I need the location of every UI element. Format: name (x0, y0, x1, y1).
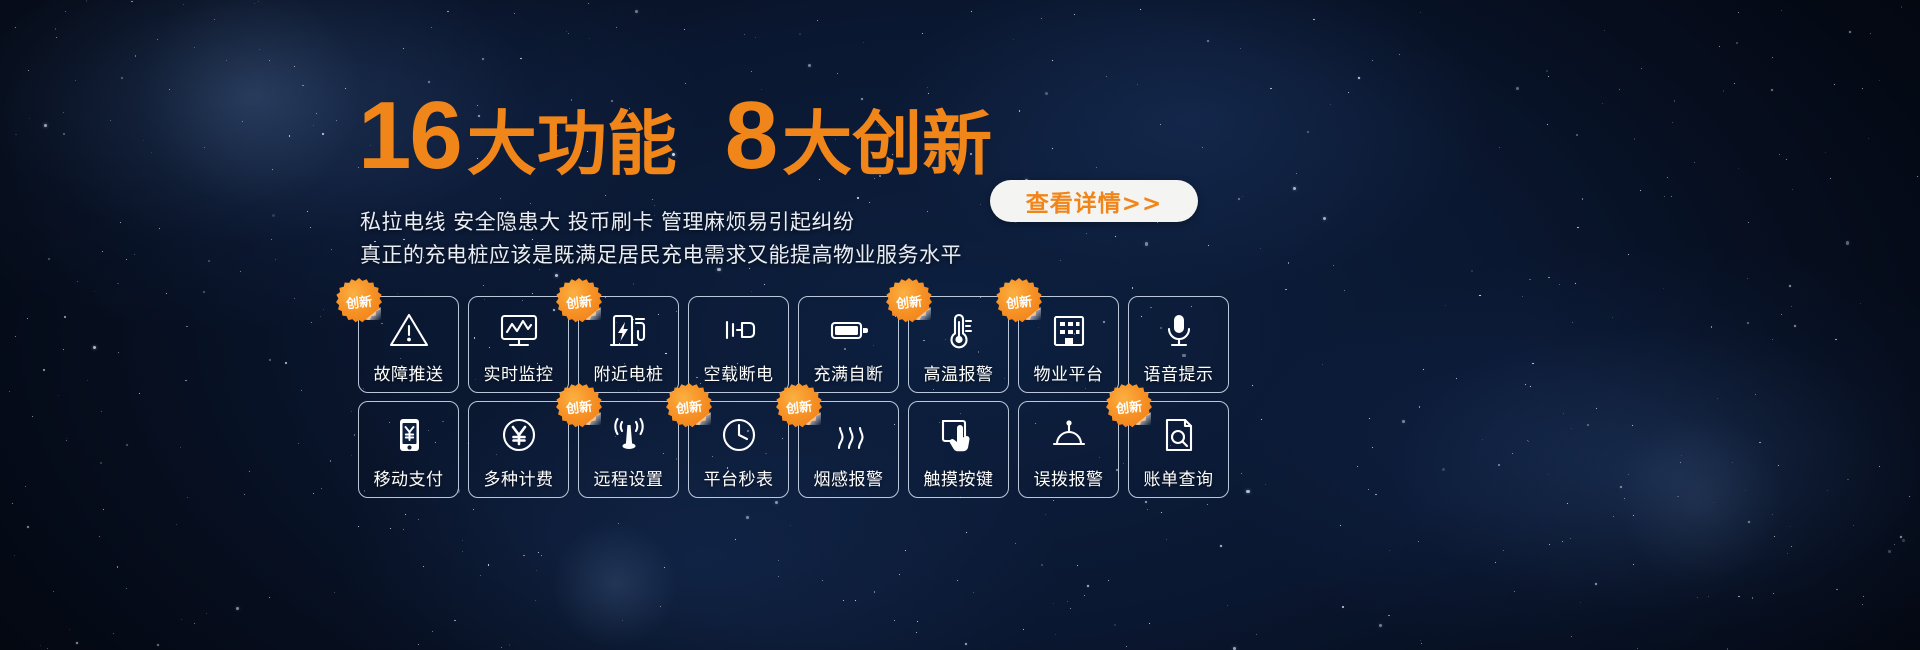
feature-cell-smoke-detector[interactable]: 创新烟感报警 (798, 401, 899, 498)
feature-label: 账单查询 (1129, 465, 1228, 490)
bill-search-icon (1157, 413, 1201, 457)
mobile-payment-icon (387, 413, 431, 457)
innovation-badge-label: 创新 (334, 276, 385, 327)
badge-fold-highlight (695, 412, 711, 425)
feature-label: 移动支付 (359, 465, 458, 490)
innovation-badge: 创新 (336, 278, 382, 324)
badge-fold-highlight (365, 307, 381, 320)
clock-icon (717, 413, 761, 457)
feature-cell-touch-hand[interactable]: 触摸按键 (908, 401, 1009, 498)
feature-cell-microphone[interactable]: 语音提示 (1128, 296, 1229, 393)
monitor-chart-icon (497, 308, 541, 352)
feature-row-1: 创新故障推送实时监控创新附近电桩空载断电充满自断创新高温报警创新物业平台语音提示 (358, 296, 1229, 393)
feature-label: 触摸按键 (909, 465, 1008, 490)
feature-cell-antenna-signal[interactable]: 创新远程设置 (578, 401, 679, 498)
feature-label: 高温报警 (909, 360, 1008, 385)
touch-hand-icon (937, 413, 981, 457)
feature-label: 故障推送 (359, 360, 458, 385)
feature-cell-battery-full[interactable]: 充满自断 (798, 296, 899, 393)
antenna-signal-icon (607, 413, 651, 457)
badge-fold-highlight (1135, 412, 1151, 425)
charging-pile-icon (607, 308, 651, 352)
feature-cell-thermometer[interactable]: 创新高温报警 (908, 296, 1009, 393)
headline-number-1: 16 (358, 88, 461, 184)
yuan-circle-icon (497, 413, 541, 457)
feature-cell-plug-disconnect[interactable]: 空载断电 (688, 296, 789, 393)
subtitle-line-1: 私拉电线 安全隐患大 投币刷卡 管理麻烦易引起纠纷 (360, 206, 962, 239)
feature-cell-bill-search[interactable]: 创新账单查询 (1128, 401, 1229, 498)
thermometer-icon (937, 308, 981, 352)
feature-row-2: 移动支付多种计费创新远程设置创新平台秒表创新烟感报警触摸按键误拨报警创新账单查询 (358, 401, 1229, 498)
headline: 16 大功能 8 大创新 (358, 88, 992, 184)
feature-label: 充满自断 (799, 360, 898, 385)
headline-number-2: 8 (725, 88, 776, 184)
feature-cell-clock[interactable]: 创新平台秒表 (688, 401, 789, 498)
subtitle-line-2: 真正的充电桩应该是既满足居民充电需求又能提高物业服务水平 (360, 239, 962, 272)
feature-label: 附近电桩 (579, 360, 678, 385)
feature-cell-building[interactable]: 创新物业平台 (1018, 296, 1119, 393)
subtitle-block: 私拉电线 安全隐患大 投币刷卡 管理麻烦易引起纠纷 真正的充电桩应该是既满足居民… (360, 206, 962, 272)
view-details-button[interactable]: 查看详情>> (990, 180, 1198, 222)
promo-banner: 16 大功能 8 大创新 私拉电线 安全隐患大 投币刷卡 管理麻烦易引起纠纷 真… (0, 0, 1920, 650)
badge-fold-highlight (805, 412, 821, 425)
alarm-bell-icon (1047, 413, 1091, 457)
feature-cell-monitor-chart[interactable]: 实时监控 (468, 296, 569, 393)
starburst-shape (336, 278, 382, 324)
feature-label: 空载断电 (689, 360, 788, 385)
feature-label: 平台秒表 (689, 465, 788, 490)
feature-cell-yuan-circle[interactable]: 多种计费 (468, 401, 569, 498)
badge-fold-highlight (585, 307, 601, 320)
badge-fold-highlight (915, 307, 931, 320)
feature-label: 烟感报警 (799, 465, 898, 490)
building-icon (1047, 308, 1091, 352)
feature-grid: 创新故障推送实时监控创新附近电桩空载断电充满自断创新高温报警创新物业平台语音提示… (358, 296, 1229, 498)
feature-label: 语音提示 (1129, 360, 1228, 385)
badge-fold-highlight (1025, 307, 1041, 320)
feature-label: 物业平台 (1019, 360, 1118, 385)
feature-cell-warning-triangle[interactable]: 创新故障推送 (358, 296, 459, 393)
feature-label: 实时监控 (469, 360, 568, 385)
microphone-icon (1157, 308, 1201, 352)
plug-disconnect-icon (717, 308, 761, 352)
feature-label: 误拨报警 (1019, 465, 1118, 490)
smoke-detector-icon (827, 413, 871, 457)
warning-triangle-icon (387, 308, 431, 352)
feature-cell-charging-pile[interactable]: 创新附近电桩 (578, 296, 679, 393)
feature-cell-alarm-bell[interactable]: 误拨报警 (1018, 401, 1119, 498)
headline-word-2: 大创新 (782, 109, 992, 179)
battery-full-icon (827, 308, 871, 352)
feature-cell-mobile-payment[interactable]: 移动支付 (358, 401, 459, 498)
feature-label: 远程设置 (579, 465, 678, 490)
headline-word-1: 大功能 (467, 109, 677, 179)
feature-label: 多种计费 (469, 465, 568, 490)
badge-fold-highlight (585, 412, 601, 425)
